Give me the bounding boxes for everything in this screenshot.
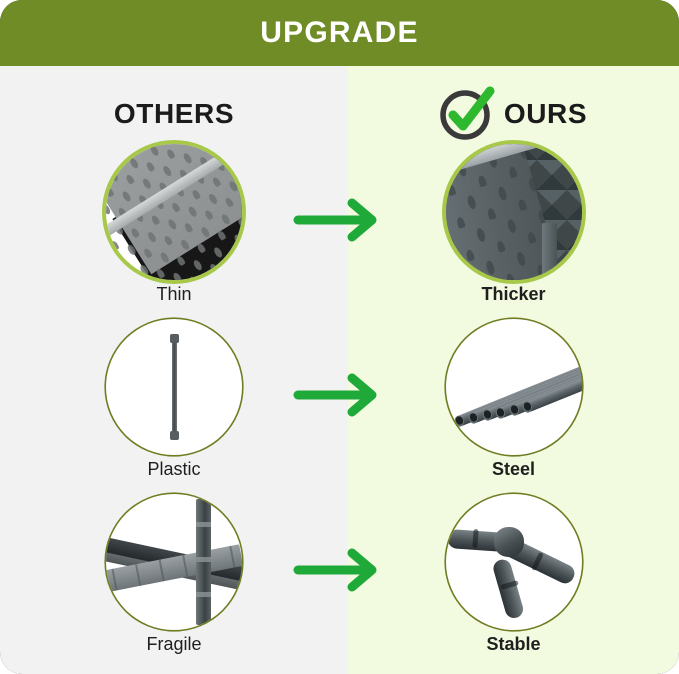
comparison-infographic-card: UPGRADE OTHERS OURS (0, 0, 679, 674)
others-column-header: OTHERS (0, 88, 348, 140)
thick-plastic-panel-photo (446, 144, 582, 280)
check-circle-icon (440, 88, 492, 140)
comparison-row: Plastic (0, 317, 679, 492)
fragile-frame-joint-photo (106, 494, 242, 630)
page-title: UPGRADE (260, 18, 418, 48)
row3-ours-cell: Stable (348, 492, 679, 667)
ours-title: OURS (504, 100, 587, 128)
steel-tubes-photo (446, 319, 582, 455)
row2-others-label: Plastic (0, 459, 348, 481)
row3-ours-label: Stable (348, 634, 679, 656)
row3-others-label: Fragile (0, 634, 348, 656)
ours-column-header: OURS (348, 88, 679, 140)
row1-ours-label: Thicker (348, 284, 679, 306)
comparison-body: OTHERS OURS (0, 66, 679, 674)
thin-plastic-rod-photo (106, 319, 242, 455)
comparison-row: Thin (0, 142, 679, 317)
row2-ours-cell: Steel (348, 317, 679, 492)
comparison-row: Fragile (0, 492, 679, 667)
thin-plastic-panel-photo (106, 144, 242, 280)
row1-ours-cell: Thicker (348, 142, 679, 317)
row2-ours-label: Steel (348, 459, 679, 481)
header-banner: UPGRADE (0, 0, 679, 66)
row1-others-label: Thin (0, 284, 348, 306)
others-title: OTHERS (114, 100, 234, 128)
stable-tube-connector-photo (446, 494, 582, 630)
